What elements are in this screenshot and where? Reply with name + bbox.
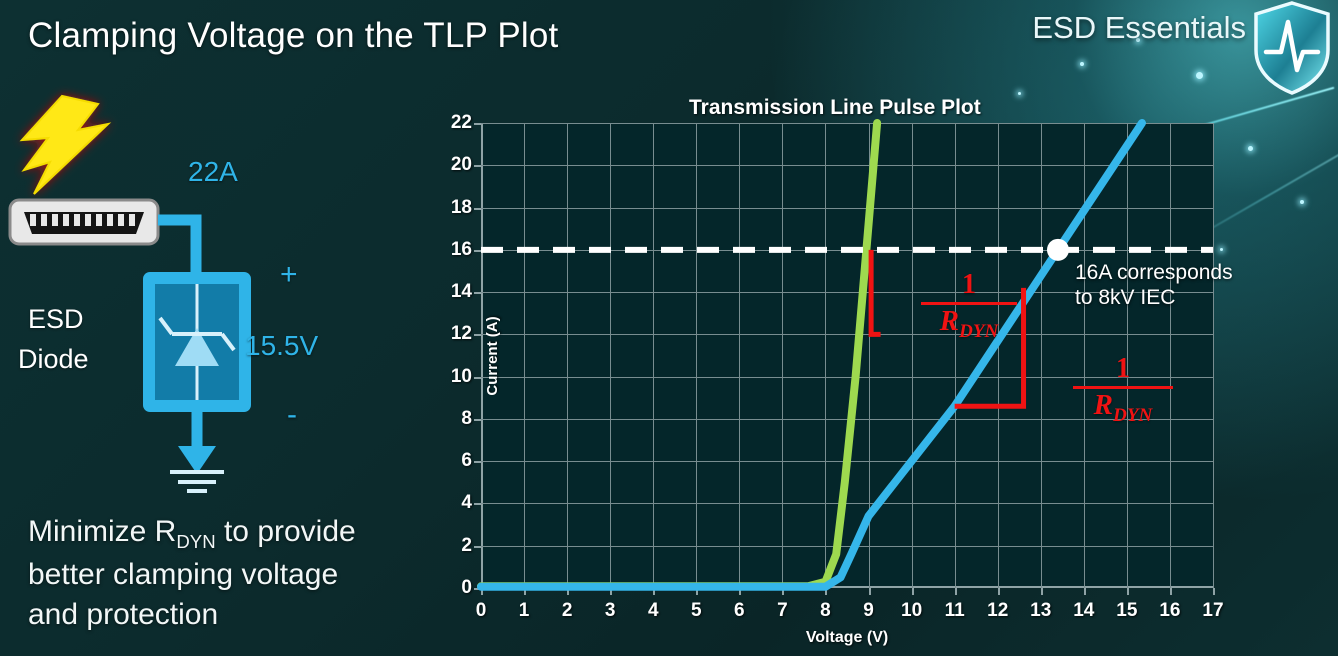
hdmi-connector-icon <box>10 200 158 244</box>
y-tick-label: 20 <box>451 154 472 176</box>
denominator-sub: DYN <box>1113 405 1152 426</box>
device-label-line2: Diode <box>18 344 89 375</box>
slope-green-numerator: 1 <box>921 271 1017 299</box>
caption-line-2: better clamping voltage <box>28 555 428 595</box>
caption-subscript: DYN <box>176 531 215 552</box>
y-tick-label: 10 <box>451 366 472 388</box>
slope-blue-formula: 1 RDYN <box>1073 355 1173 426</box>
x-tick-label: 11 <box>945 600 965 622</box>
x-tick-label: 6 <box>734 600 745 622</box>
x-tick-label: 1 <box>519 600 530 622</box>
y-axis-label: Current (A) <box>484 316 501 395</box>
x-tick-label: 2 <box>562 600 573 622</box>
x-axis-label: Voltage (V) <box>806 629 888 647</box>
x-tick-label: 4 <box>648 600 659 622</box>
shield-pulse-icon <box>1250 0 1334 96</box>
chart-title: Transmission Line Pulse Plot <box>689 96 981 120</box>
tvs-diode-icon <box>143 272 251 412</box>
y-tick-label: 12 <box>451 323 472 345</box>
minus-sign-label: - <box>287 398 297 432</box>
plot-area: 0123456789101112131415161702468101214161… <box>481 123 1213 588</box>
sparkle <box>1196 72 1203 79</box>
x-tick-label: 5 <box>691 600 702 622</box>
y-tick-label: 0 <box>461 577 472 599</box>
y-tick-mark <box>474 546 481 548</box>
tlp-chart: Transmission Line Pulse Plot 01234567891… <box>411 88 1338 656</box>
y-tick-label: 6 <box>461 450 472 472</box>
x-tick-label: 12 <box>987 600 1008 622</box>
x-tick-label: 3 <box>605 600 616 622</box>
clamping-point-marker <box>1047 239 1069 261</box>
caption-text: Minimize RDYN to provide better clamping… <box>28 512 428 635</box>
y-tick-mark <box>474 334 481 336</box>
x-tick-label: 14 <box>1073 600 1094 622</box>
x-tick-label: 13 <box>1030 600 1051 622</box>
ground-symbol-icon <box>170 412 224 491</box>
voltage-label: 15.5V <box>245 330 318 362</box>
x-tick-label: 7 <box>777 600 788 622</box>
caption-part-a: Minimize R <box>28 515 176 548</box>
series-line <box>481 123 1142 587</box>
threshold-annotation-line1: 16A corresponds <box>1075 261 1233 286</box>
esd-circuit-diagram: 22A ESD Diode + 15.5V - <box>0 78 430 498</box>
circuit-wiring <box>158 220 196 272</box>
current-label: 22A <box>188 156 238 188</box>
y-tick-mark <box>474 165 481 167</box>
x-tick-mark <box>955 588 957 595</box>
slope-blue-numerator: 1 <box>1073 355 1173 383</box>
slope-marker-green <box>871 250 880 335</box>
threshold-annotation: 16A corresponds to 8kV IEC <box>1075 261 1233 311</box>
x-tick-label: 16 <box>1159 600 1180 622</box>
y-tick-label: 18 <box>451 197 472 219</box>
y-tick-label: 22 <box>451 112 472 134</box>
y-tick-mark <box>474 377 481 379</box>
x-tick-label: 0 <box>476 600 487 622</box>
slope-green-formula: 1 RDYN <box>921 271 1017 342</box>
plus-sign-label: + <box>280 258 298 292</box>
gridline-vertical <box>1213 123 1214 588</box>
y-tick-label: 8 <box>461 408 472 430</box>
device-label-line1: ESD <box>28 304 84 335</box>
x-tick-label: 17 <box>1202 600 1223 622</box>
x-tick-label: 10 <box>901 600 922 622</box>
y-tick-mark <box>474 123 481 125</box>
x-tick-mark <box>1084 588 1086 595</box>
slope-green-denominator: RDYN <box>921 306 1017 342</box>
x-tick-mark <box>1213 588 1215 595</box>
sparkle <box>1080 62 1084 66</box>
y-tick-label: 16 <box>451 239 472 261</box>
x-tick-mark <box>912 588 914 595</box>
x-tick-label: 8 <box>820 600 831 622</box>
x-tick-mark <box>1041 588 1043 595</box>
denominator-main: R <box>1094 389 1113 421</box>
x-tick-mark <box>1127 588 1129 595</box>
series-line <box>481 123 877 586</box>
y-tick-label: 4 <box>461 492 472 514</box>
fraction-bar <box>1073 386 1173 389</box>
slide-canvas: Clamping Voltage on the TLP Plot ESD Ess… <box>0 0 1338 656</box>
y-tick-label: 2 <box>461 535 472 557</box>
y-tick-mark <box>474 419 481 421</box>
y-tick-mark <box>474 503 481 505</box>
y-tick-mark <box>474 250 481 252</box>
x-tick-label: 9 <box>863 600 874 622</box>
caption-line-3: and protection <box>28 595 428 635</box>
lightning-bolt-icon <box>22 96 108 194</box>
x-tick-label: 15 <box>1116 600 1137 622</box>
brand-label: ESD Essentials <box>1032 10 1246 46</box>
x-tick-mark <box>998 588 1000 595</box>
y-tick-mark <box>474 208 481 210</box>
x-tick-mark <box>1170 588 1172 595</box>
denominator-main: R <box>940 305 959 337</box>
slope-blue-denominator: RDYN <box>1073 390 1173 426</box>
denominator-sub: DYN <box>959 321 998 342</box>
y-tick-mark <box>474 292 481 294</box>
threshold-annotation-line2: to 8kV IEC <box>1075 286 1233 311</box>
fraction-bar <box>921 302 1017 305</box>
x-tick-mark <box>869 588 871 595</box>
caption-part-b: to provide <box>216 515 356 548</box>
y-tick-label: 14 <box>451 281 472 303</box>
page-title: Clamping Voltage on the TLP Plot <box>28 16 558 56</box>
y-tick-mark <box>474 461 481 463</box>
